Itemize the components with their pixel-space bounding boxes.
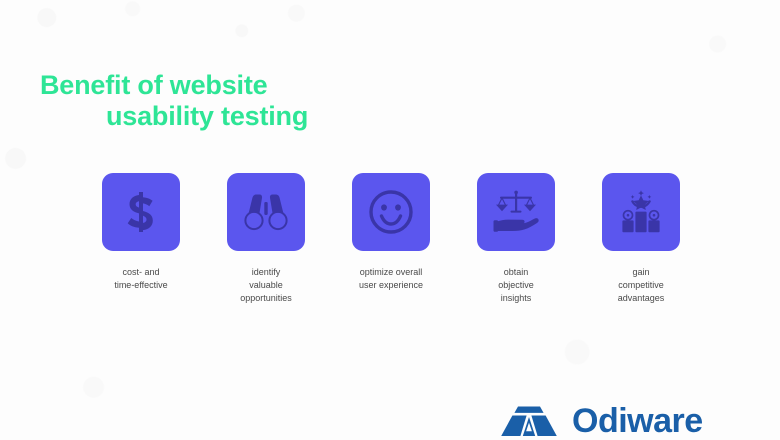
binoculars-icon [243,192,289,232]
odiware-trapezoid-mark-icon [500,405,558,437]
benefit-caption: gain competitive advantages [589,266,693,304]
smiley-face-icon [368,189,414,235]
benefit-caption: obtain objective insights [464,266,568,304]
podium-star-icon [617,189,665,235]
benefit-card-objective-insights[interactable] [477,173,555,251]
benefit-item-optimize-ux: optimize overall user experience [352,173,430,304]
benefit-caption: cost- and time-effective [89,266,193,292]
benefits-row: cost- and time-effective [102,173,680,304]
slide-canvas: Benefit of website usability testing cos… [0,0,780,440]
benefit-item-cost-time: cost- and time-effective [102,173,180,304]
benefit-card-cost-time[interactable] [102,173,180,251]
logo-wordmark: Odiware [572,404,703,438]
benefit-card-identify-opportunities[interactable] [227,173,305,251]
scales-on-hand-icon [491,189,541,235]
page-title: Benefit of website usability testing [40,70,308,133]
title-line-1: Benefit of website [40,70,308,101]
benefit-item-objective-insights: obtain objective insights [477,173,555,304]
benefit-item-competitive-advantage: gain competitive advantages [602,173,680,304]
benefit-item-identify-opportunities: identify valuable opportunities [227,173,305,304]
benefit-card-competitive-advantage[interactable] [602,173,680,251]
title-line-2: usability testing [40,101,308,132]
benefit-caption: optimize overall user experience [339,266,443,292]
benefit-caption: identify valuable opportunities [214,266,318,304]
dollar-sign-icon [124,190,158,234]
odiware-logo[interactable]: Odiware [500,404,703,438]
benefit-card-optimize-ux[interactable] [352,173,430,251]
